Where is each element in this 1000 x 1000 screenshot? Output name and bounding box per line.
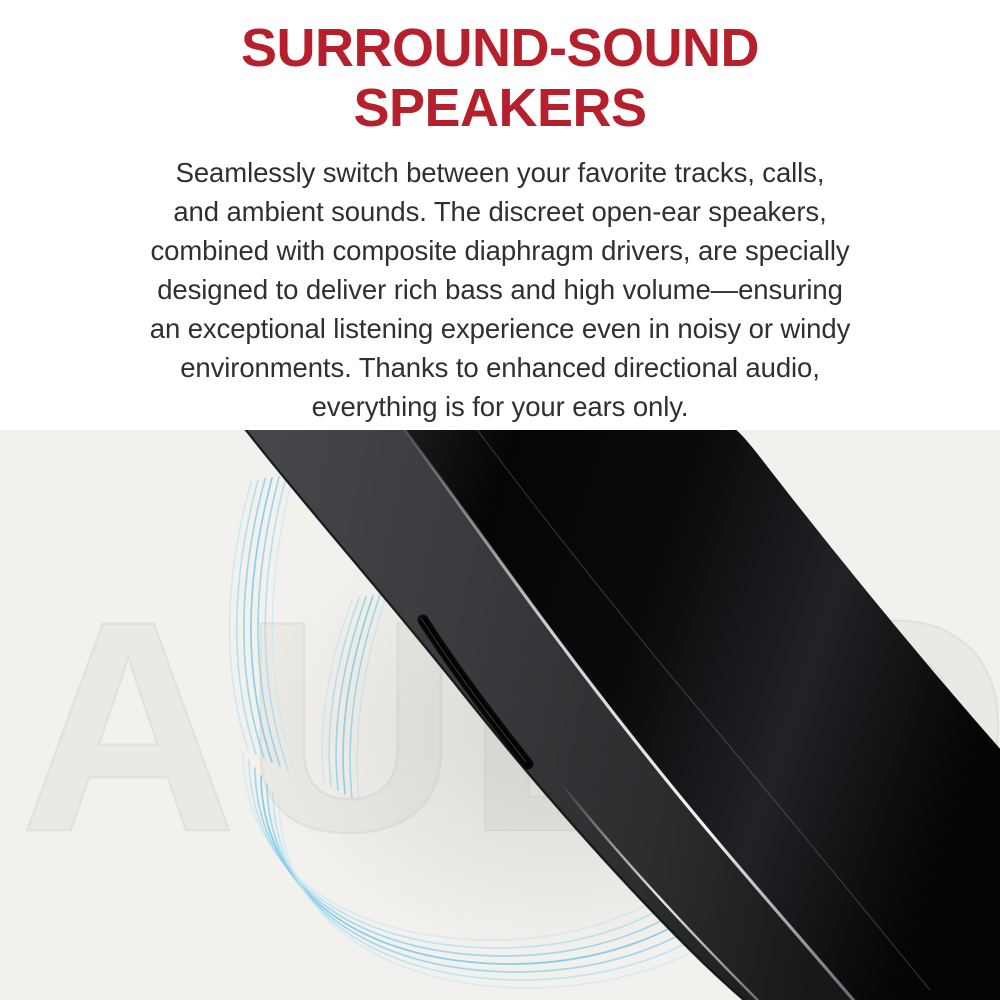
description-line-5: an exceptional listening experience even… — [35, 309, 965, 348]
description-line-6: environments. Thanks to enhanced directi… — [35, 348, 965, 387]
headline-line-2: SPEAKERS — [28, 78, 972, 138]
description-paragraph: Seamlessly switch between your favorite … — [35, 153, 965, 426]
product-image-panel: AUDIO — [0, 430, 1000, 1000]
description-line-2: and ambient sounds. The discreet open-ea… — [35, 192, 965, 231]
description-line-3: combined with composite diaphragm driver… — [35, 231, 965, 270]
headline-line-1: SURROUND-SOUND — [28, 18, 972, 78]
product-photo: AUDIO — [0, 430, 1000, 1000]
product-feature-page: SURROUND-SOUND SPEAKERS Seamlessly switc… — [0, 0, 1000, 1000]
description-line-7: everything is for your ears only. — [35, 387, 965, 426]
description-line-1: Seamlessly switch between your favorite … — [35, 153, 965, 192]
page-title: SURROUND-SOUND SPEAKERS — [28, 18, 972, 139]
description-line-4: designed to deliver rich bass and high v… — [35, 270, 965, 309]
text-panel: SURROUND-SOUND SPEAKERS Seamlessly switc… — [0, 0, 1000, 430]
